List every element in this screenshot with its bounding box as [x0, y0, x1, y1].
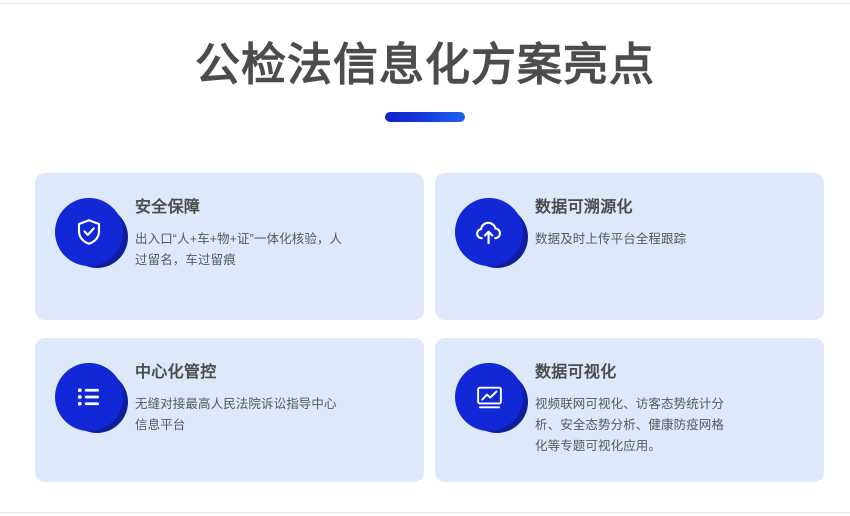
icon-container: [52, 196, 135, 276]
feature-card-data-visualization[interactable]: 数据可视化 视频联网可视化、访客态势统计分析、安全态势分析、健康防疫网格化等专题…: [435, 338, 824, 482]
page-root: 公检法信息化方案亮点 安全保障 出入口“人+车+物+证”一体化核验，人: [0, 0, 850, 516]
card-text-block: 数据可视化 视频联网可视化、访客态势统计分析、安全态势分析、健康防疫网格化等专题…: [535, 361, 733, 457]
card-text-block: 数据可溯源化 数据及时上传平台全程跟踪: [535, 196, 686, 250]
title-underline-accent: [385, 112, 465, 122]
chart-monitor-icon: [474, 382, 505, 413]
feature-card-security[interactable]: 安全保障 出入口“人+车+物+证”一体化核验，人过留名，车过留痕: [35, 173, 424, 320]
icon-disc: [55, 363, 123, 431]
card-title: 数据可视化: [535, 363, 733, 383]
card-title: 数据可溯源化: [535, 198, 686, 218]
icon-disc: [455, 198, 523, 266]
icon-container: [452, 196, 535, 276]
top-divider: [0, 3, 850, 4]
card-description: 出入口“人+车+物+证”一体化核验，人过留名，车过留痕: [135, 229, 347, 271]
feature-card-grid: 安全保障 出入口“人+车+物+证”一体化核验，人过留名，车过留痕: [35, 173, 824, 482]
card-description: 视频联网可视化、访客态势统计分析、安全态势分析、健康防疫网格化等专题可视化应用。: [535, 394, 733, 457]
bullet-list-icon: [74, 382, 104, 412]
icon-container: [52, 361, 135, 441]
card-text-block: 安全保障 出入口“人+车+物+证”一体化核验，人过留名，车过留痕: [135, 196, 347, 271]
bottom-divider: [0, 512, 850, 513]
feature-card-data-traceability[interactable]: 数据可溯源化 数据及时上传平台全程跟踪: [435, 173, 824, 320]
page-header: 公检法信息化方案亮点: [0, 34, 850, 122]
card-title: 中心化管控: [135, 363, 347, 383]
cloud-upload-icon: [473, 216, 505, 248]
icon-disc: [455, 363, 523, 431]
card-description: 无缝对接最高人民法院诉讼指导中心信息平台: [135, 394, 347, 436]
shield-check-icon: [74, 217, 104, 247]
icon-disc: [55, 198, 123, 266]
feature-card-centralized-control[interactable]: 中心化管控 无缝对接最高人民法院诉讼指导中心信息平台: [35, 338, 424, 482]
card-title: 安全保障: [135, 198, 347, 218]
page-title: 公检法信息化方案亮点: [0, 34, 850, 96]
card-text-block: 中心化管控 无缝对接最高人民法院诉讼指导中心信息平台: [135, 361, 347, 436]
card-description: 数据及时上传平台全程跟踪: [535, 229, 686, 250]
icon-container: [452, 361, 535, 441]
